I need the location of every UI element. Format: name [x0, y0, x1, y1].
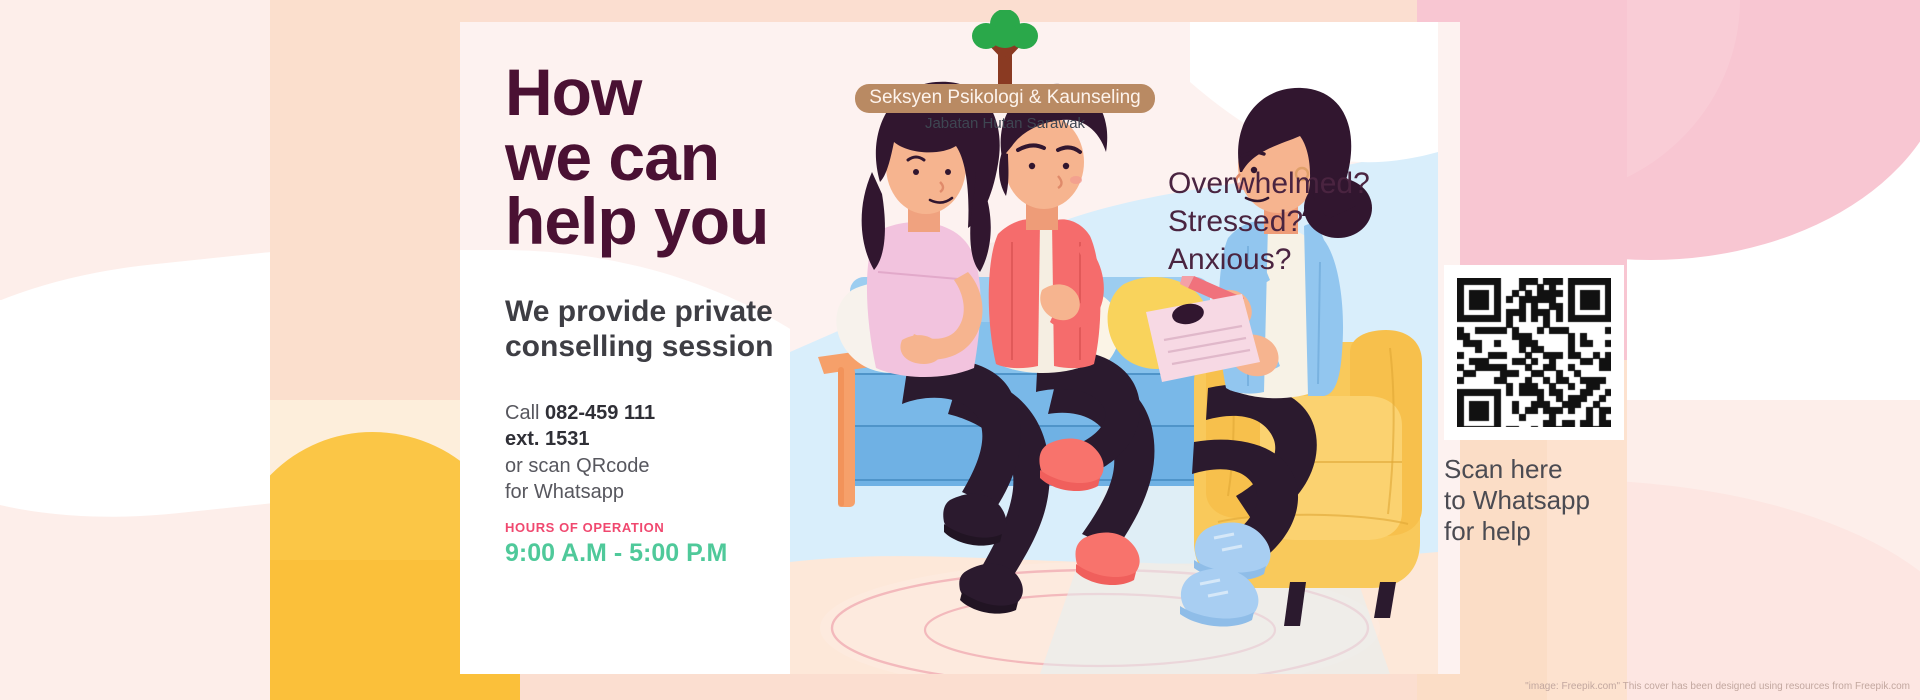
- hours-of-operation-block: HOURS OF OPERATION 9:00 A.M - 5:00 P.M: [505, 520, 835, 568]
- prompt-line-2: Stressed?: [1168, 203, 1428, 241]
- prompt-line-1: Overwhelmed?: [1168, 165, 1428, 203]
- logo-banner-text: Seksyen Psikologi & Kaunseling: [855, 84, 1154, 113]
- prompt-line-3: Anxious?: [1168, 241, 1428, 279]
- qr-code-card[interactable]: [1444, 265, 1624, 440]
- phone-extension: ext. 1531: [505, 428, 590, 450]
- qr-code-image[interactable]: [1457, 278, 1611, 427]
- subheadline-line-1: We provide private: [505, 295, 845, 330]
- headline-line-2: we can: [505, 125, 885, 190]
- headline-line-1: How: [505, 60, 885, 125]
- scan-instruction-line-2: for Whatsapp: [505, 479, 835, 505]
- headline-line-3: help you: [505, 189, 885, 254]
- call-line: Call 082-459 111: [505, 400, 835, 426]
- qr-block: Scan here to Whatsapp for help: [1444, 265, 1624, 548]
- page-title: How we can help you: [505, 60, 885, 254]
- extension-line: ext. 1531: [505, 426, 835, 452]
- phone-number: 082-459 111: [545, 402, 655, 424]
- logo-sub-text: Jabatan Hutan Sarawak: [855, 115, 1155, 132]
- prompt-questions: Overwhelmed? Stressed? Anxious?: [1168, 165, 1428, 279]
- scan-line-3: for help: [1444, 516, 1624, 547]
- scan-line-2: to Whatsapp: [1444, 485, 1624, 516]
- scan-instruction-line-1: or scan QRcode: [505, 453, 835, 479]
- hours-label: HOURS OF OPERATION: [505, 520, 835, 535]
- image-credit: "image: Freepik.com" This cover has been…: [1525, 681, 1910, 692]
- organisation-logo: Seksyen Psikologi & Kaunseling Jabatan H…: [855, 10, 1155, 132]
- subheadline-line-2: conselling session: [505, 330, 845, 365]
- call-prefix-label: Call: [505, 402, 545, 424]
- scan-line-1: Scan here: [1444, 454, 1624, 485]
- tree-icon: [855, 10, 1155, 88]
- contact-block: Call 082-459 111 ext. 1531 or scan QRcod…: [505, 400, 835, 506]
- hours-value: 9:00 A.M - 5:00 P.M: [505, 539, 835, 568]
- subheadline: We provide private conselling session: [505, 295, 845, 364]
- scan-instruction-text: Scan here to Whatsapp for help: [1444, 454, 1624, 548]
